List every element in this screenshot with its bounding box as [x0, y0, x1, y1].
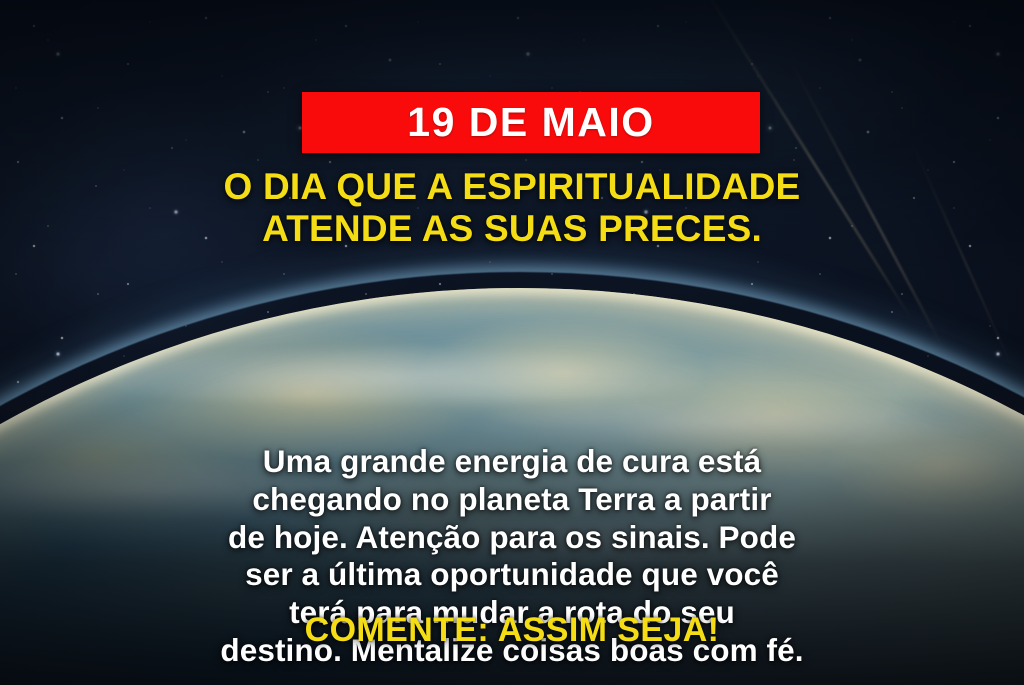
body-line-4: ser a última oportunidade que você: [40, 556, 984, 594]
call-to-action-text: COMENTE: ASSIM SEJA!: [0, 613, 1024, 647]
body-line-3: de hoje. Atenção para os sinais. Pode: [40, 519, 984, 557]
date-banner: 19 DE MAIO: [302, 92, 760, 153]
headline: O DIA QUE A ESPIRITUALIDADE ATENDE AS SU…: [0, 166, 1024, 250]
date-banner-text: 19 DE MAIO: [407, 102, 654, 143]
headline-line-1: O DIA QUE A ESPIRITUALIDADE: [56, 166, 968, 208]
content-layer: 19 DE MAIO O DIA QUE A ESPIRITUALIDADE A…: [0, 0, 1024, 685]
body-line-1: Uma grande energia de cura está: [40, 443, 984, 481]
poster-canvas: 19 DE MAIO O DIA QUE A ESPIRITUALIDADE A…: [0, 0, 1024, 685]
headline-line-2: ATENDE AS SUAS PRECES.: [56, 208, 968, 250]
body-line-2: chegando no planeta Terra a partir: [40, 481, 984, 519]
